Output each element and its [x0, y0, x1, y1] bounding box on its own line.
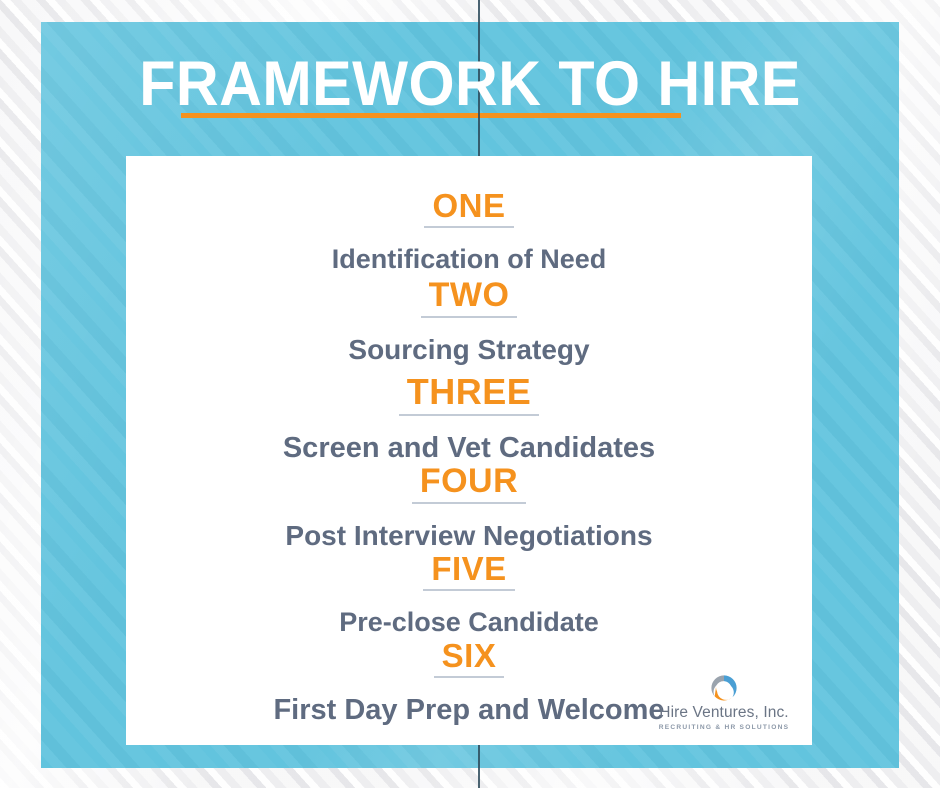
step-label: Post Interview Negotiations: [126, 522, 812, 550]
list-item: TWO Sourcing Strategy: [126, 278, 812, 364]
step-number: FOUR: [412, 464, 526, 504]
step-label: Sourcing Strategy: [126, 336, 812, 364]
step-label: Pre-close Candidate: [126, 609, 812, 636]
swirl-icon: [709, 673, 739, 703]
content-card: ONE Identification of Need TWO Sourcing …: [126, 156, 812, 745]
step-label: Screen and Vet Candidates: [126, 434, 812, 463]
page-title: FRAMEWORK TO HIRE: [67, 22, 874, 118]
step-label: Identification of Need: [126, 246, 812, 273]
list-item: FIVE Pre-close Candidate: [126, 552, 812, 636]
poster-canvas: FRAMEWORK TO HIRE ONE Identification of …: [0, 0, 940, 788]
step-number: FIVE: [423, 552, 514, 591]
step-number: ONE: [424, 189, 513, 228]
list-item: ONE Identification of Need: [126, 189, 812, 273]
logo-tagline: RECRUITING & HR SOLUTIONS: [644, 724, 804, 731]
list-item: THREE Screen and Vet Candidates: [126, 374, 812, 463]
step-number: SIX: [434, 639, 505, 678]
poster-header: FRAMEWORK TO HIRE: [41, 22, 899, 156]
step-number: THREE: [399, 374, 540, 416]
step-number: TWO: [421, 278, 518, 318]
company-logo: Hire Ventures, Inc. RECRUITING & HR SOLU…: [644, 673, 804, 731]
list-item: FOUR Post Interview Negotiations: [126, 464, 812, 550]
logo-company-name: Hire Ventures, Inc.: [644, 705, 804, 721]
